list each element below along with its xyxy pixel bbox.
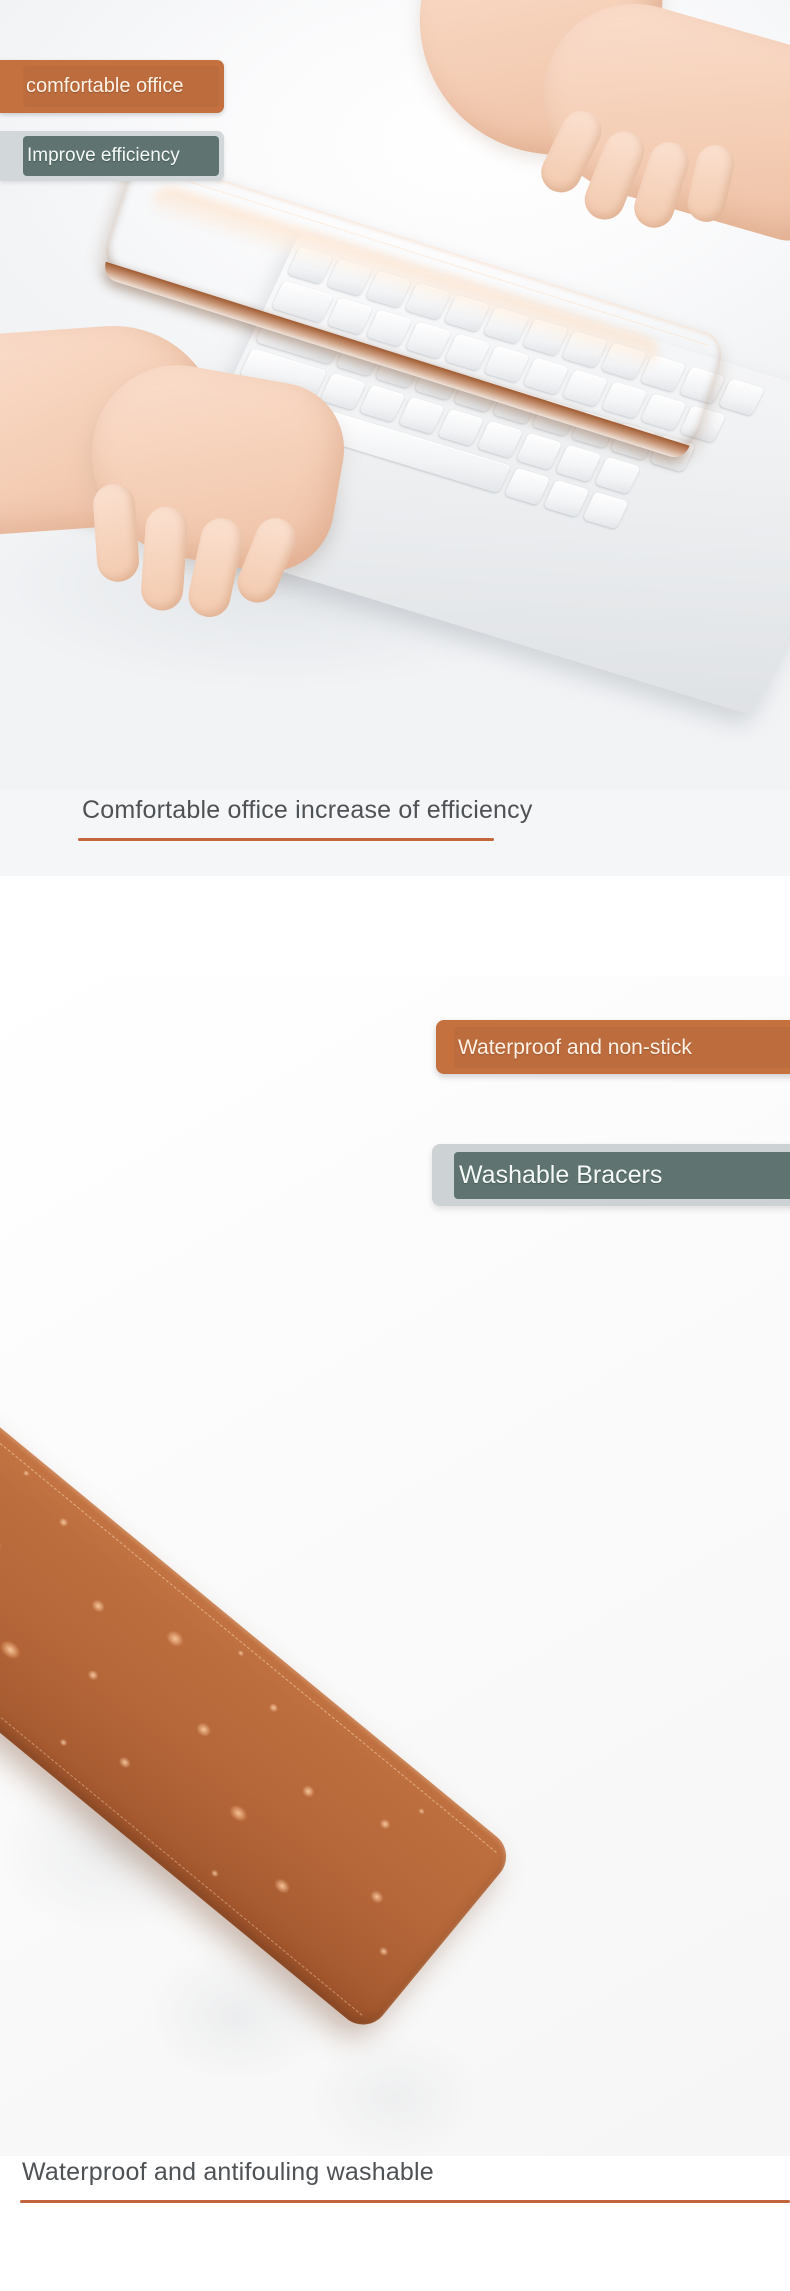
keyboard-key [504, 468, 550, 506]
keyboard-key [477, 421, 523, 459]
finger [92, 482, 141, 583]
caption-waterproof-washable: Waterproof and antifouling washable [22, 2158, 434, 2187]
finger [684, 141, 739, 226]
caption-underline-one [78, 838, 494, 841]
keyboard-key [438, 409, 484, 447]
banner-waterproof-non-stick: Waterproof and non-stick [436, 1020, 790, 1074]
banner-improve-efficiency: Improve efficiency [0, 131, 224, 181]
finger [140, 505, 189, 612]
banner-washable-bracers-label: Washable Bracers [454, 1152, 790, 1199]
banner-comfortable-office-label: comfortable office [23, 66, 219, 107]
keyboard-key [359, 385, 405, 423]
caption-underline-two [20, 2200, 790, 2203]
keyboard-key [516, 433, 562, 471]
banner-waterproof-non-stick-label: Waterproof and non-stick [454, 1027, 790, 1068]
caption-comfortable-office: Comfortable office increase of efficienc… [82, 796, 533, 825]
waterproof-section: Waterproof and non-stick Washable Bracer… [0, 976, 790, 2156]
caption-band-two: Waterproof and antifouling washable [0, 2156, 790, 2291]
keyboard-key [555, 445, 601, 483]
keyboard-key [543, 480, 589, 518]
keyboard-key [718, 378, 764, 416]
keyboard-key [582, 492, 628, 530]
comfortable-office-section: comfortable office Improve efficiency Co… [0, 0, 790, 876]
keyboard-key [594, 457, 640, 495]
section-divider-gap [0, 876, 790, 976]
banner-improve-efficiency-label: Improve efficiency [23, 136, 219, 176]
banner-comfortable-office: comfortable office [0, 60, 224, 113]
caption-band-one: Comfortable office increase of efficienc… [0, 790, 790, 876]
keyboard-key [398, 397, 444, 435]
banner-washable-bracers: Washable Bracers [432, 1144, 790, 1206]
